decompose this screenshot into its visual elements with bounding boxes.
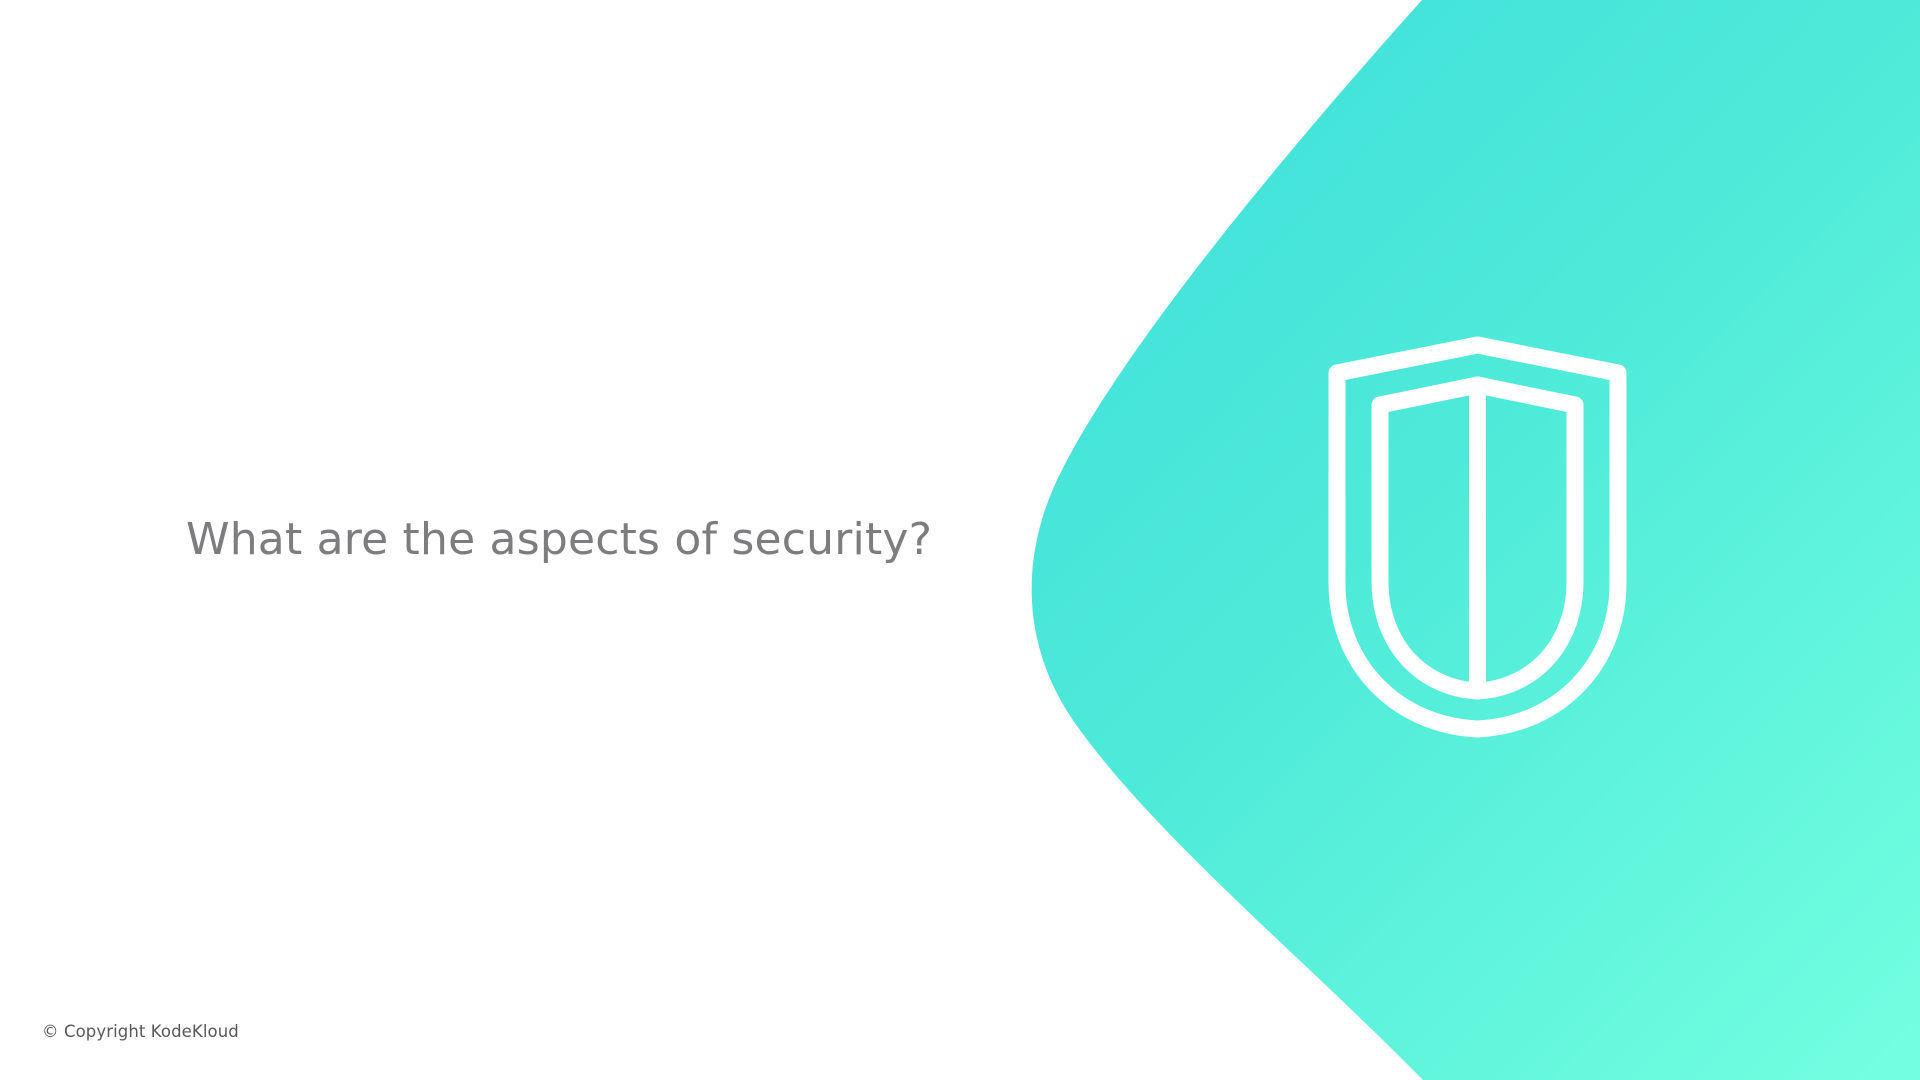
copyright-notice: © Copyright KodeKloud: [42, 1022, 239, 1041]
slide-canvas: What are the aspects of security? © Copy…: [0, 0, 1920, 1080]
shield-icon: [1325, 333, 1630, 743]
page-title: What are the aspects of security?: [186, 511, 1006, 569]
